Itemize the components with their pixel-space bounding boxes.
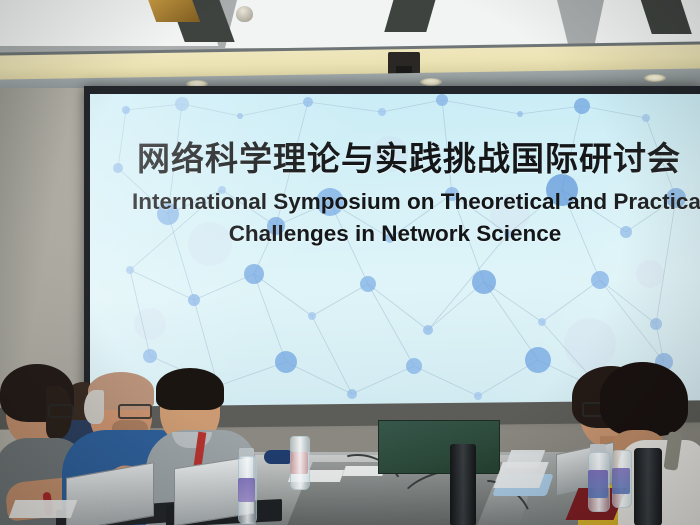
slide-title-block: 网络科学理论与实践挑战国际研讨会 International Symposium… xyxy=(90,132,700,247)
paper-sheet xyxy=(9,500,78,518)
ceiling-light-panel xyxy=(305,0,570,50)
slide-title-chinese: 网络科学理论与实践挑战国际研讨会 xyxy=(118,132,700,180)
slide-title-english-line1: International Symposium on Theoretical a… xyxy=(132,189,700,215)
hair xyxy=(600,362,688,436)
ceiling-dome-speaker-icon xyxy=(236,6,253,22)
black-thermos xyxy=(634,448,662,525)
hair xyxy=(156,368,224,410)
slide-title-english-line2: Challenges in Network Science xyxy=(90,221,700,247)
projection-screen: 网络科学理论与实践挑战国际研讨会 International Symposium… xyxy=(90,94,700,412)
conference-room-photo: 网络科学理论与实践挑战国际研讨会 International Symposium… xyxy=(0,0,700,525)
downlight-icon xyxy=(644,74,666,82)
eyeglasses-icon xyxy=(48,404,74,418)
eyeglasses-icon xyxy=(118,404,152,419)
paper-sheet xyxy=(493,462,548,488)
black-thermos xyxy=(450,444,476,525)
laptop-green-lid xyxy=(378,420,500,474)
bottle-label-purple xyxy=(238,478,255,502)
bottle-label-blue xyxy=(588,470,608,498)
downlight-icon xyxy=(420,78,442,86)
hair xyxy=(84,390,104,424)
bottle-label-blue xyxy=(612,468,630,494)
water-bottle-red-label xyxy=(290,436,310,490)
